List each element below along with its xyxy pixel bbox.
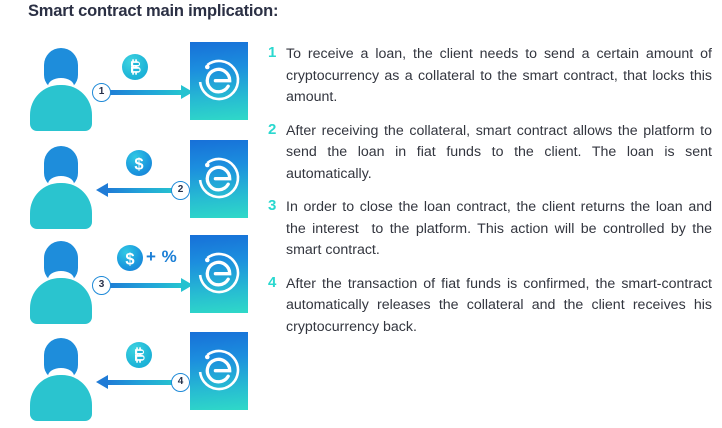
arrow-client-to-contract-1 [110, 90, 182, 95]
smart-contract-tile-3 [190, 235, 248, 313]
step-marker-4: 4 [171, 373, 190, 392]
step-number-2: 2 [268, 121, 282, 138]
arrow-client-to-contract-3 [110, 283, 182, 288]
arrow-head-left-icon [96, 183, 108, 197]
avatar-body-icon [30, 183, 92, 229]
arrow-contract-to-client-2 [107, 188, 181, 193]
step-item-2: 2 After receiving the collateral, smart … [268, 121, 712, 186]
arrow-line [110, 90, 182, 95]
step-item-3: 3 In order to close the loan contract, t… [268, 197, 712, 262]
step-marker-2: 2 [171, 181, 190, 200]
arrow-line [107, 188, 181, 193]
flow-row-3: $ + % 3 [0, 235, 265, 325]
svg-text:$: $ [125, 250, 134, 268]
infographic-page: Smart contract main implication: [0, 0, 722, 428]
dollar-coin-icon: $ [117, 245, 143, 271]
step-item-1: 1 To receive a loan, the client needs to… [268, 44, 712, 109]
bitcoin-coin-icon [126, 342, 152, 368]
arrow-line [107, 380, 181, 385]
flow-diagram: 1 $ [0, 30, 265, 428]
avatar-body-icon [30, 375, 92, 421]
smart-contract-tile-2 [190, 140, 248, 218]
flow-row-4: 4 [0, 332, 265, 422]
step-number-1: 1 [268, 44, 282, 61]
plus-percent-label: + % [146, 247, 177, 267]
flow-row-2: $ 2 [0, 140, 265, 230]
page-title: Smart contract main implication: [28, 2, 278, 21]
step-number-4: 4 [268, 274, 282, 291]
step-marker-3: 3 [92, 276, 111, 295]
bitcoin-coin-icon [122, 54, 148, 80]
svg-text:$: $ [134, 155, 143, 173]
avatar-body-icon [30, 85, 92, 131]
avatar-body-icon [30, 278, 92, 324]
step-text-4: After the transaction of fiat funds is c… [286, 274, 712, 339]
arrow-head-left-icon [96, 375, 108, 389]
step-number-3: 3 [268, 197, 282, 214]
step-text-1: To receive a loan, the client needs to s… [286, 44, 712, 109]
smart-contract-tile-4 [190, 332, 248, 410]
steps-list: 1 To receive a loan, the client needs to… [268, 44, 712, 350]
step-marker-1: 1 [92, 83, 111, 102]
step-text-3: In order to close the loan contract, the… [286, 197, 712, 262]
dollar-coin-icon: $ [126, 150, 152, 176]
step-item-4: 4 After the transaction of fiat funds is… [268, 274, 712, 339]
step-text-2: After receiving the collateral, smart co… [286, 121, 712, 186]
smart-contract-tile-1 [190, 42, 248, 120]
arrow-line [110, 283, 182, 288]
client-avatar [30, 241, 92, 321]
client-avatar [30, 48, 92, 128]
client-avatar [30, 146, 92, 226]
flow-row-1: 1 [0, 42, 265, 132]
client-avatar [30, 338, 92, 418]
arrow-contract-to-client-4 [107, 380, 181, 385]
